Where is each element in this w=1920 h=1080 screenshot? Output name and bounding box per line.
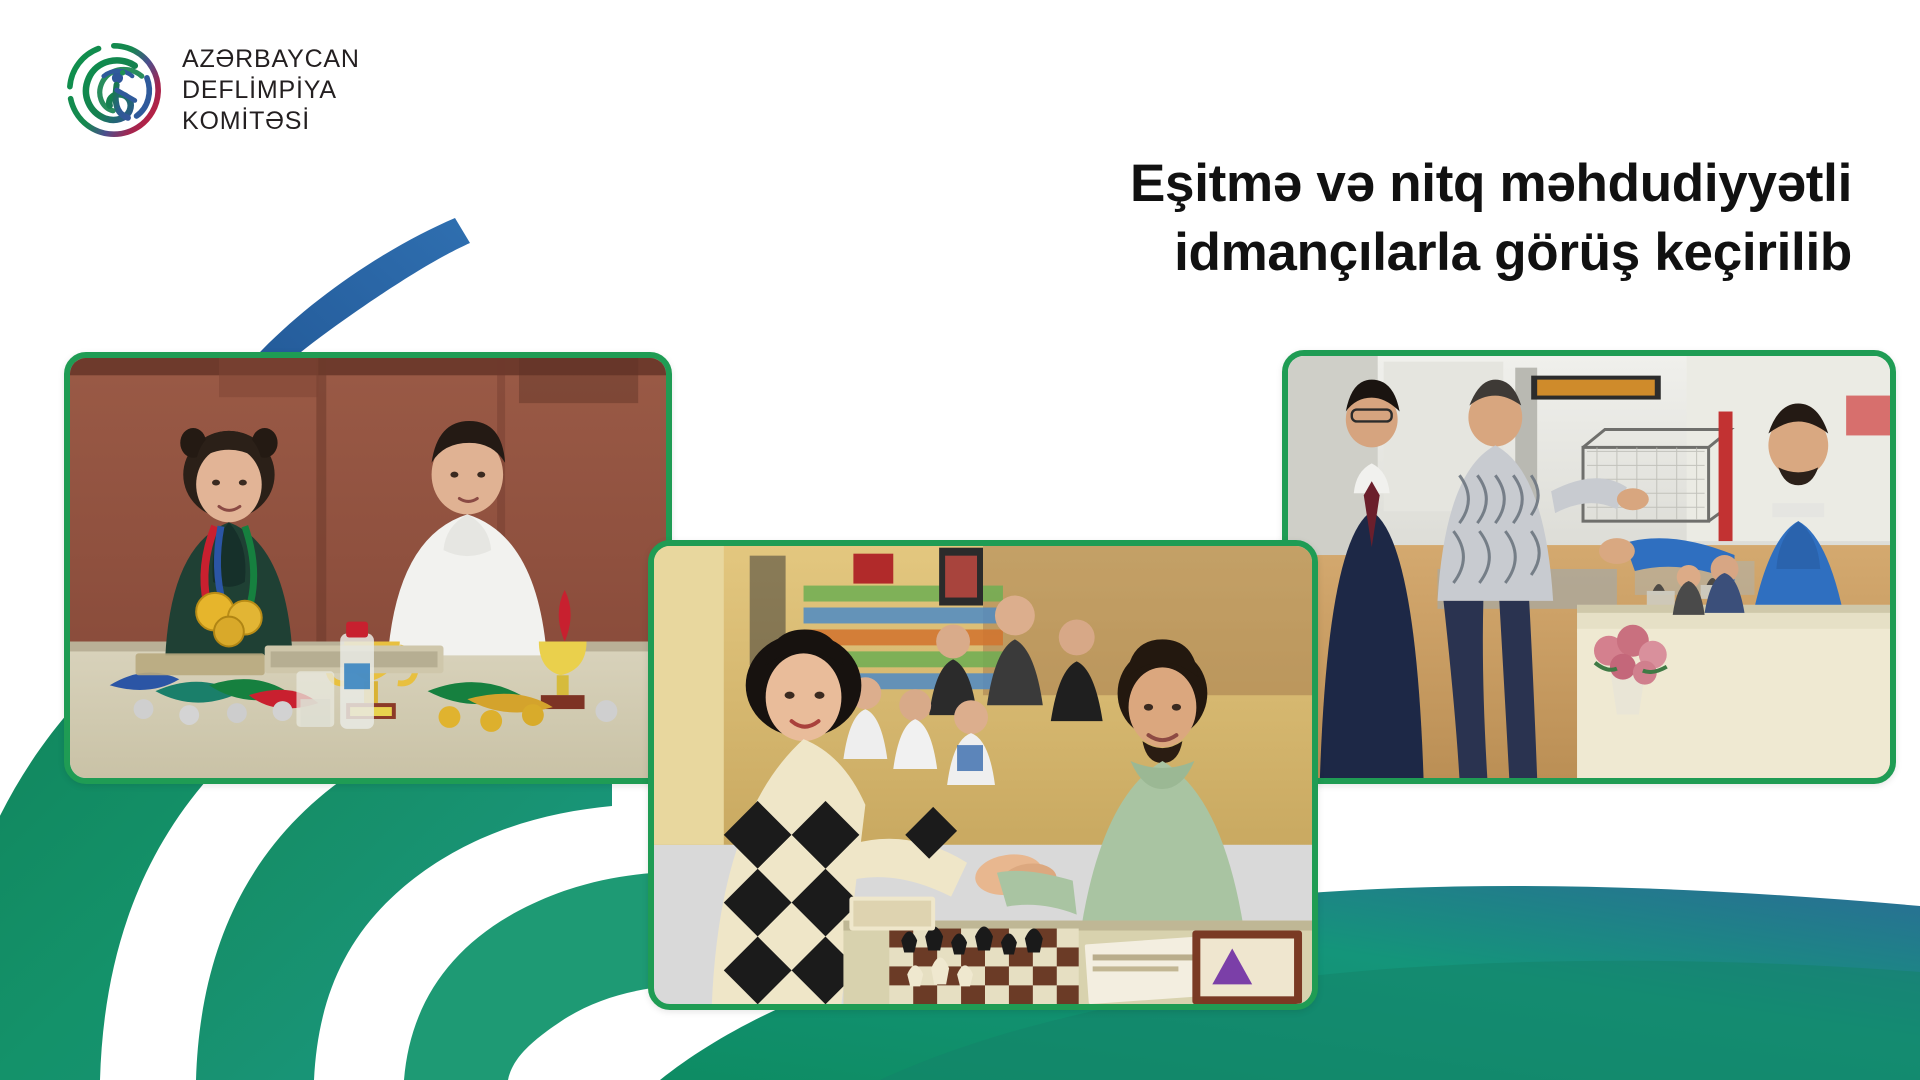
page-title-line-2: idmançılarla görüş keçirilib [792, 219, 1852, 288]
gallery-photo-center[interactable] [648, 540, 1318, 1010]
brand-name: AZƏRBAYCAN DEFLİMPİYA KOMİTƏSİ [182, 45, 360, 135]
banner-canvas: AZƏRBAYCAN DEFLİMPİYA KOMİTƏSİ Eşitmə və… [0, 0, 1920, 1080]
brand-logo[interactable]: AZƏRBAYCAN DEFLİMPİYA KOMİTƏSİ [62, 38, 360, 142]
photo-image-center [654, 546, 1312, 1004]
page-title-line-1: Eşitmə və nitq məhdudiyyətli [792, 150, 1852, 219]
page-title: Eşitmə və nitq məhdudiyyətli idmançılarl… [792, 150, 1852, 288]
deaflympics-swirl-figure-logo [62, 38, 166, 142]
photo-image-right [1288, 356, 1890, 778]
brand-name-line-1: AZƏRBAYCAN [182, 45, 360, 73]
gallery-photo-left[interactable] [64, 352, 672, 784]
brand-name-line-3: KOMİTƏSİ [182, 107, 360, 135]
gallery-photo-right[interactable] [1282, 350, 1896, 784]
brand-name-line-2: DEFLİMPİYA [182, 76, 360, 104]
photo-image-left [70, 358, 666, 778]
